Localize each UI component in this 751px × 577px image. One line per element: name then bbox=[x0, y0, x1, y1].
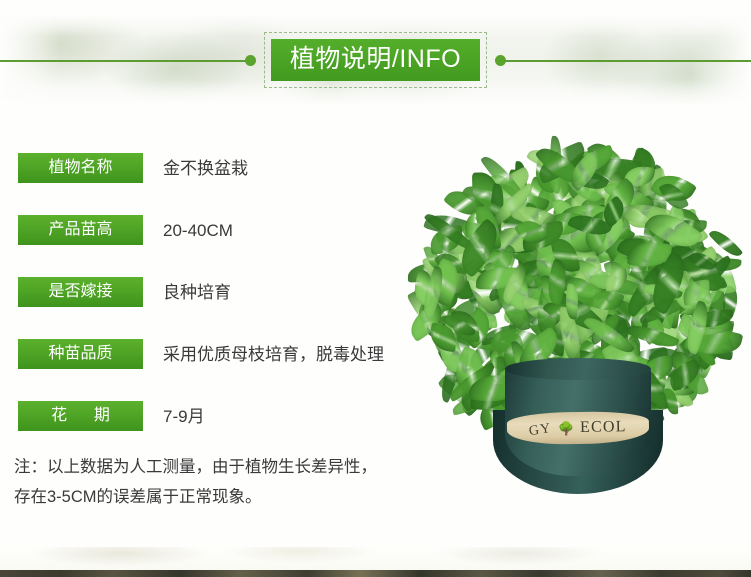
spec-label: 是否嫁接 bbox=[18, 277, 143, 307]
pot-band-text-right: ECOL bbox=[580, 419, 627, 436]
spec-value: 良种培育 bbox=[163, 284, 231, 301]
plant-pot: GY 🌳 ECOL bbox=[493, 364, 663, 509]
tree-icon: 🌳 bbox=[558, 422, 574, 435]
page-title: 植物说明/INFO bbox=[271, 39, 480, 81]
dot-icon-right bbox=[495, 55, 506, 66]
header-rule-right bbox=[503, 60, 751, 62]
disclaimer-line-1: 注：以上数据为人工测量，由于植物生长差异性， bbox=[14, 452, 444, 482]
spec-value: 采用优质母枝培育，脱毒处理 bbox=[163, 346, 384, 363]
spec-row-grafted: 是否嫁接 良种培育 bbox=[18, 277, 438, 307]
measurement-disclaimer: 注：以上数据为人工测量，由于植物生长差异性， 存在3-5CM的误差属于正常现象。 bbox=[14, 452, 444, 512]
spec-table: 植物名称 金不换盆栽 产品苗高 20-40CM 是否嫁接 良种培育 种苗品质 采… bbox=[18, 153, 438, 431]
spec-row-seedling-height: 产品苗高 20-40CM bbox=[18, 215, 438, 245]
spec-label: 产品苗高 bbox=[18, 215, 143, 245]
footer-edge-strip bbox=[0, 570, 751, 577]
disclaimer-line-2: 存在3-5CM的误差属于正常现象。 bbox=[14, 482, 444, 512]
spec-label: 植物名称 bbox=[18, 153, 143, 183]
spec-label: 种苗品质 bbox=[18, 339, 143, 369]
pot-band-text-left: GY bbox=[528, 422, 553, 439]
spec-row-seedling-quality: 种苗品质 采用优质母枝培育，脱毒处理 bbox=[18, 339, 438, 369]
section-title-frame: 植物说明/INFO bbox=[264, 32, 487, 88]
header-rule-left bbox=[0, 60, 248, 62]
spec-label: 花 期 bbox=[18, 401, 143, 431]
spec-row-flowering-period: 花 期 7-9月 bbox=[18, 401, 438, 431]
product-info-page: 植物说明/INFO 植物名称 金不换盆栽 产品苗高 20-40CM 是否嫁接 良… bbox=[0, 0, 751, 577]
spec-value: 7-9月 bbox=[163, 408, 205, 425]
spec-value: 20-40CM bbox=[163, 222, 233, 239]
product-photo-potted-plant: GY 🌳 ECOL bbox=[405, 128, 751, 508]
pot-rim bbox=[505, 358, 651, 380]
spec-row-plant-name: 植物名称 金不换盆栽 bbox=[18, 153, 438, 183]
spec-value: 金不换盆栽 bbox=[163, 160, 248, 177]
dot-icon-left bbox=[245, 55, 256, 66]
